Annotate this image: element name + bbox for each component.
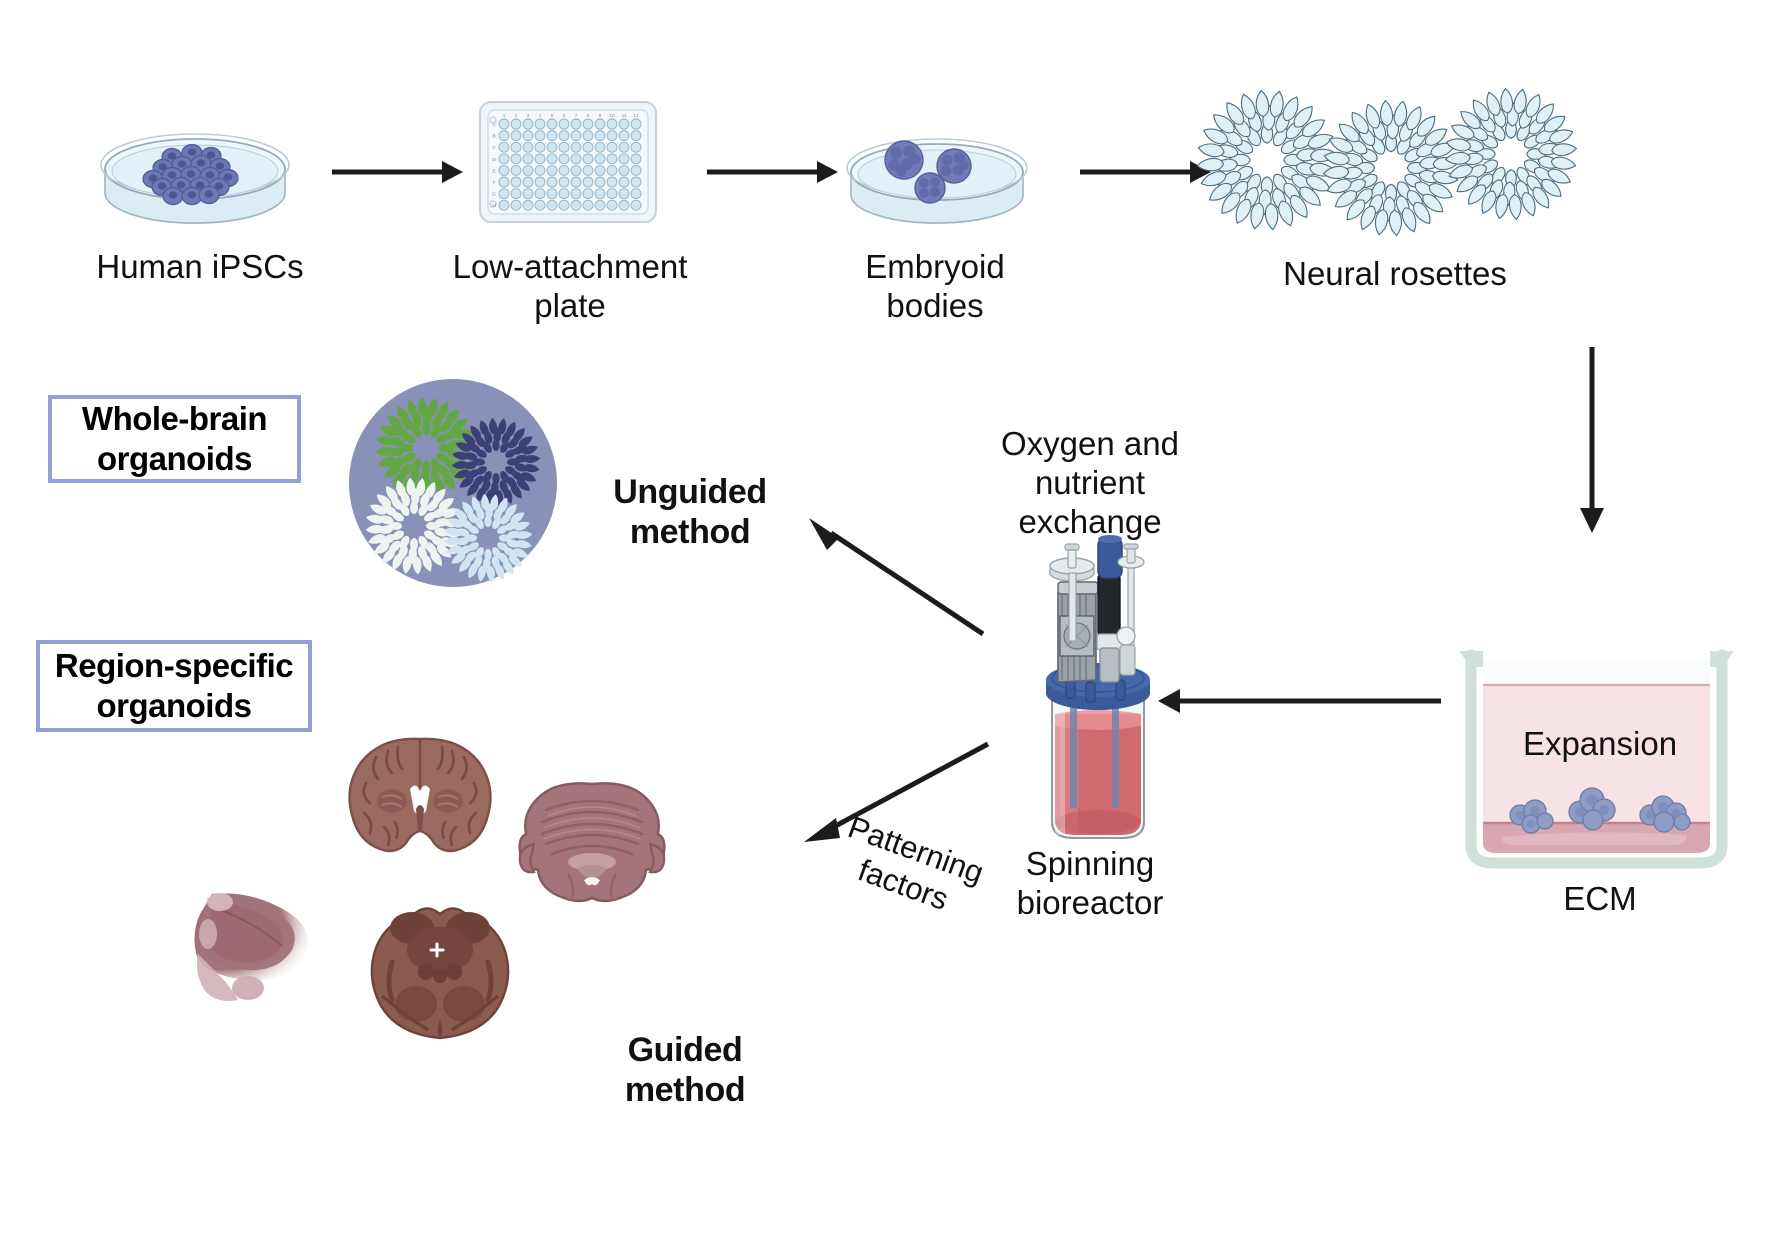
category-label: Whole-brain organoids — [82, 399, 267, 478]
svg-text:9: 9 — [599, 113, 602, 118]
label-unguided-method: Unguided method — [575, 472, 805, 552]
label-neural-rosettes: Neural rosettes — [1230, 255, 1560, 294]
label-human-ipscs: Human iPSCs — [55, 248, 345, 287]
svg-text:7: 7 — [575, 113, 578, 118]
category-region-specific-organoids: Region-specific organoids — [36, 640, 312, 732]
svg-text:4: 4 — [539, 113, 542, 118]
svg-text:1: 1 — [503, 113, 506, 118]
label-low-attachment-plate: Low-attachment plate — [420, 248, 720, 326]
arrow-rosettes-to-ecm — [1572, 345, 1612, 535]
svg-text:8: 8 — [587, 113, 590, 118]
svg-text:6: 6 — [563, 113, 566, 118]
retina-organoid-icon — [192, 888, 352, 1008]
svg-text:E: E — [492, 168, 495, 173]
arrow-ecm-to-bioreactor — [1158, 684, 1443, 718]
svg-text:3: 3 — [527, 113, 530, 118]
arrow-bioreactor-to-unguided — [805, 516, 985, 636]
neural-rosettes-icon — [1195, 92, 1585, 237]
label-expansion: Expansion — [1480, 725, 1720, 764]
forebrain-coronal-section-icon — [340, 735, 500, 865]
svg-text:B: B — [492, 134, 495, 139]
petri-dish-embryoid-bodies — [842, 100, 1032, 230]
label-ecm: ECM — [1480, 880, 1720, 919]
label-guided-method: Guided method — [570, 1030, 800, 1110]
svg-text:F: F — [493, 180, 496, 185]
arrow-ipsc-to-plate — [330, 155, 465, 189]
petri-dish-ipsc — [95, 95, 295, 230]
label-oxygen-nutrient-exchange: Oxygen and nutrient exchange — [955, 425, 1225, 542]
midbrain-organoid-icon — [352, 900, 527, 1050]
low-attachment-plate-icon: 123456789101112ABCDEFGH — [478, 98, 658, 226]
whole-brain-organoid-icon — [348, 378, 558, 588]
svg-text:2: 2 — [515, 113, 518, 118]
svg-text:10: 10 — [609, 113, 615, 118]
cerebellum-organoid-icon — [512, 780, 672, 905]
svg-text:11: 11 — [622, 113, 627, 118]
arrow-plate-to-eb — [705, 155, 840, 189]
svg-text:5: 5 — [551, 113, 554, 118]
arrow-eb-to-rosettes — [1078, 155, 1213, 189]
figure-canvas: Human iPSCs 123456789101112ABCDEFGH Low-… — [0, 0, 1772, 1242]
spinning-bioreactor-icon — [1000, 530, 1180, 850]
svg-text:12: 12 — [633, 113, 639, 118]
svg-text:G: G — [492, 192, 496, 197]
category-label: Region-specific organoids — [55, 646, 293, 725]
svg-text:H: H — [492, 203, 495, 208]
category-whole-brain-organoids: Whole-brain organoids — [48, 395, 301, 483]
label-embryoid-bodies: Embryoid bodies — [790, 248, 1080, 326]
